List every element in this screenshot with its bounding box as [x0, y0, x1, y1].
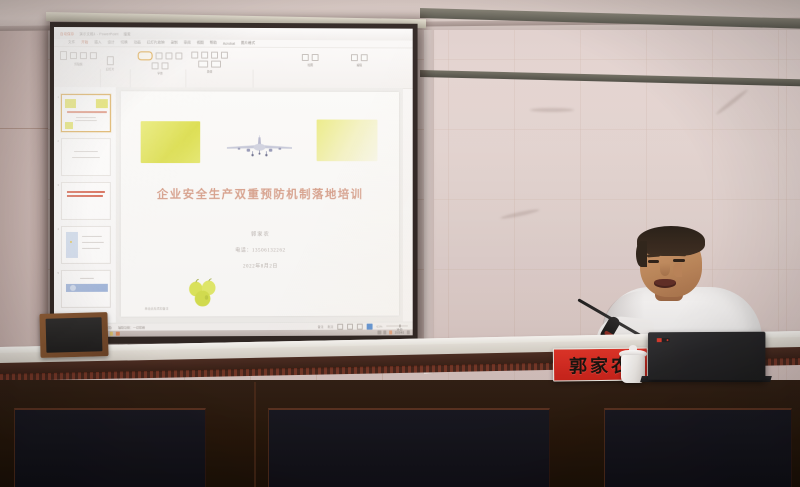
slide-graphic-right: [317, 120, 378, 162]
tab-design[interactable]: 设计: [107, 40, 114, 45]
thumbnail-slide-3[interactable]: 3: [61, 182, 111, 220]
find-icon[interactable]: [351, 54, 358, 61]
tab-animations[interactable]: 动画: [134, 40, 141, 45]
cut-icon[interactable]: [70, 52, 77, 59]
show-desktop-icon[interactable]: [406, 331, 409, 334]
view-sorter-icon[interactable]: [347, 323, 353, 329]
podium-recessed-panel: [268, 408, 550, 487]
slide-presenter-phone: 电话：13506132262: [121, 246, 399, 254]
current-slide[interactable]: 企业安全生产双重预防机制落地培训 郭家农 电话：13506132262 2022…: [121, 91, 399, 317]
status-comments-button[interactable]: 批注: [327, 324, 333, 328]
bold-icon[interactable]: [165, 52, 172, 59]
podium-recessed-panel: [604, 408, 792, 487]
font-color-icon[interactable]: [152, 62, 159, 69]
format-painter-icon[interactable]: [90, 52, 97, 59]
replace-icon[interactable]: [361, 54, 368, 61]
clock-date: 2022/8/2: [395, 331, 404, 334]
status-zoom-level[interactable]: 63%: [376, 324, 382, 328]
thumbnail-number: 4: [57, 228, 58, 231]
tab-transitions[interactable]: 切换: [121, 40, 128, 45]
ribbon-group-label: 绘图: [307, 63, 313, 67]
thumbnail-slide-2[interactable]: 2: [61, 138, 111, 176]
slide-notes-placeholder[interactable]: 单击此处添加备注: [145, 307, 169, 311]
tray-app-icon[interactable]: [389, 331, 392, 334]
copy-icon[interactable]: [80, 52, 87, 59]
presenter-eye: [648, 260, 659, 263]
tray-volume-icon[interactable]: [383, 331, 386, 334]
laptop-logo-icon: [657, 338, 670, 342]
ribbon-group-editing[interactable]: 编辑: [351, 54, 368, 67]
thumbnail-number: 1: [57, 96, 58, 99]
tab-file[interactable]: 文件: [68, 40, 75, 45]
new-slide-icon[interactable]: [107, 56, 114, 65]
ppt-document-title: 演示文稿1 - PowerPoint: [79, 31, 118, 36]
fruit-illustration-icon: [186, 279, 220, 309]
laptop: [648, 332, 765, 381]
font-size-box[interactable]: [156, 52, 163, 59]
view-slideshow-icon[interactable]: [367, 323, 373, 329]
view-normal-icon[interactable]: [337, 323, 343, 329]
powerpoint-taskbar-icon[interactable]: [116, 332, 119, 335]
slide-thumbnail-panel[interactable]: 1 2 3: [54, 87, 117, 323]
ribbon-group-label: 字体: [157, 71, 163, 75]
airplane-icon: [225, 135, 294, 159]
tab-review[interactable]: 审阅: [184, 41, 191, 46]
columns-icon[interactable]: [211, 61, 221, 68]
tab-record[interactable]: 录制: [171, 41, 178, 46]
bullet-list-icon[interactable]: [191, 52, 198, 59]
projection-screen: 自动保存 演示文稿1 - PowerPoint 搜索 文件 开始 插入 设计 切…: [50, 22, 418, 344]
arrange-icon[interactable]: [312, 54, 319, 61]
thumbnail-number: 5: [57, 272, 58, 275]
ppt-ribbon[interactable]: 剪贴板 幻灯片: [54, 47, 413, 89]
italic-icon[interactable]: [175, 52, 182, 59]
wall-scuff-mark: [530, 108, 574, 112]
align-icon[interactable]: [198, 61, 208, 68]
ribbon-group-slides[interactable]: 幻灯片: [106, 56, 114, 71]
slide-presenter-name: 郭家农: [121, 230, 399, 237]
tab-insert[interactable]: 插入: [94, 40, 101, 45]
taskbar-clock[interactable]: 16:05 2022/8/2: [395, 330, 404, 335]
tab-view[interactable]: 视图: [197, 41, 204, 46]
thumbnail-slide-4[interactable]: 4: [61, 226, 111, 264]
thumbnail-number: 2: [57, 140, 58, 143]
ribbon-group-label: 段落: [207, 70, 213, 74]
tab-picture-format[interactable]: 图片格式: [241, 41, 255, 46]
highlight-icon[interactable]: [162, 62, 169, 69]
ribbon-group-font[interactable]: 字体: [138, 51, 183, 75]
thumbnail-number: 3: [57, 184, 58, 187]
presenter-eye: [673, 259, 685, 262]
tab-slideshow[interactable]: 幻灯片放映: [147, 40, 165, 45]
ribbon-group-drawing[interactable]: 绘图: [302, 54, 319, 67]
projected-image-area: 自动保存 演示文稿1 - PowerPoint 搜索 文件 开始 插入 设计 切…: [54, 27, 413, 337]
status-notes-button[interactable]: 备注: [318, 324, 324, 328]
indent-icon[interactable]: [211, 52, 218, 59]
powerpoint-window: 自动保存 演示文稿1 - PowerPoint 搜索 文件 开始 插入 设计 切…: [54, 27, 413, 337]
slide-title: 企业安全生产双重预防机制落地培训: [121, 186, 399, 202]
slide-editing-area[interactable]: 企业安全生产双重预防机制落地培训 郭家农 电话：13506132262 2022…: [116, 87, 403, 323]
tab-home[interactable]: 开始: [81, 40, 88, 45]
thumbnail-slide-1[interactable]: 1: [61, 94, 111, 132]
shapes-icon[interactable]: [302, 54, 309, 61]
font-name-box[interactable]: [138, 51, 153, 60]
zoom-slider[interactable]: [386, 326, 408, 327]
numbered-list-icon[interactable]: [201, 52, 208, 59]
podium-front-panel: [0, 380, 800, 487]
ribbon-group-label: 编辑: [357, 63, 363, 67]
presenter-hair: [637, 226, 705, 256]
ribbon-group-paragraph[interactable]: 段落: [191, 52, 228, 74]
paste-icon[interactable]: [60, 51, 67, 60]
thumbnail-slide-5[interactable]: 5: [61, 270, 111, 308]
ribbon-group-label: 剪贴板: [74, 62, 82, 66]
ribbon-group-label: 幻灯片: [106, 67, 114, 71]
wooden-desk-placard: [39, 312, 108, 358]
folder-icon[interactable]: [110, 332, 113, 335]
slide-graphic-left: [141, 121, 201, 163]
ribbon-group-clipboard[interactable]: 剪贴板: [60, 51, 97, 66]
status-accessibility[interactable]: 辅助功能：一切就绪: [118, 325, 145, 329]
presenter-mouth: [654, 279, 676, 288]
line-spacing-icon[interactable]: [221, 52, 228, 59]
podium-recessed-panel: [14, 408, 206, 487]
tab-acrobat[interactable]: Acrobat: [223, 41, 235, 45]
lecture-room-photo: 自动保存 演示文稿1 - PowerPoint 搜索 文件 开始 插入 设计 切…: [0, 0, 800, 487]
ppt-autosave-label: 自动保存: [60, 31, 74, 36]
tray-network-icon[interactable]: [378, 331, 381, 334]
slide-date: 2022年8月2日: [121, 262, 399, 270]
tab-help[interactable]: 帮助: [210, 41, 217, 46]
ppt-search-label: 搜索: [124, 31, 131, 36]
view-reading-icon[interactable]: [357, 323, 363, 329]
